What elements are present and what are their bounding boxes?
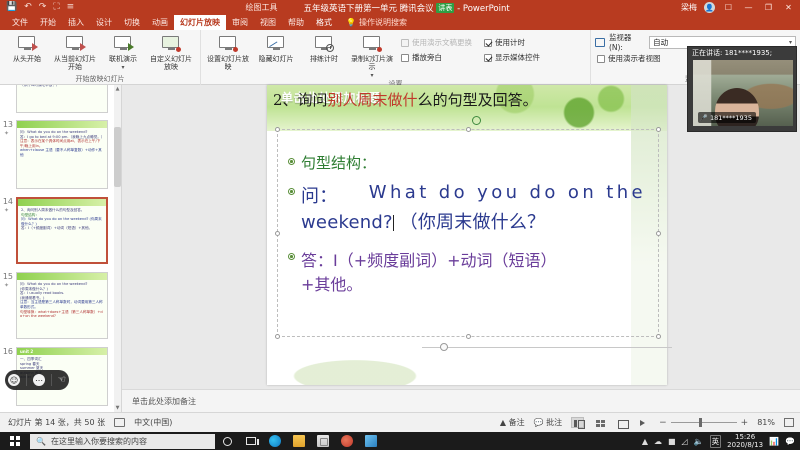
text-cursor [393,215,394,231]
thumb-line: 注意：表示在某个具体时间点用at，表示在上午/下午/晚上用in。 [20,139,104,148]
custom-slideshow-button[interactable]: 自定义幻灯片放映 [148,33,194,71]
chevron-down-icon[interactable]: ▾ [121,64,124,71]
thumbnail-number: 12 [2,85,16,113]
checkbox-icon [484,54,492,62]
notification-icon[interactable]: 📊 [769,437,779,446]
notes-splitter[interactable] [422,345,672,350]
comments-button[interactable]: 💬 批注 [534,417,563,428]
hide-slide-button[interactable]: 隐藏幻灯片 [253,33,299,63]
slide-thumbnail-pane[interactable]: 12 （+频度副词）+动词短语+其他 （你什么时候吃早饭？） 13 ✦ 问：Wh… [0,85,122,412]
start-from-current-label: 从当前幻灯片开始 [52,55,98,71]
close-button[interactable]: ✕ [782,3,795,12]
scroll-down-arrow[interactable]: ▼ [114,404,121,412]
chevron-down-icon[interactable]: ▾ [370,72,373,79]
file-explorer-icon[interactable] [287,432,311,450]
app-name: PowerPoint [463,4,510,14]
start-show-icon[interactable]: ⛶ [53,3,59,12]
question-chinese: （你周末做什么？ [400,212,546,233]
quick-access-toolbar: 💾 ↶ ↷ ⛶ ≡ [0,3,74,12]
slide-show-view-button[interactable] [637,417,650,428]
zoom-out-button[interactable]: − [659,418,667,428]
cortana-icon[interactable] [215,432,239,450]
checkbox-icon [401,54,409,62]
cloud-icon[interactable]: ☁ [654,437,662,446]
custom-slideshow-label: 自定义幻灯片放映 [148,55,194,71]
reaction-toolbar[interactable]: ☺ ⋯ ☜ [5,370,69,390]
task-view-icon[interactable] [239,432,263,450]
tab-file[interactable]: 文件 [6,15,34,30]
bullet-item-structure[interactable]: 句型结构： [288,152,376,173]
thumb-body: 问：What do you do on the weekend? 答：I go … [17,128,107,188]
tab-insert[interactable]: 插入 [62,15,90,30]
tab-transitions[interactable]: 切换 [118,15,146,30]
chevron-down-icon: ▾ [789,39,792,46]
use-timings-label: 使用计时 [495,37,525,48]
question-english: What do you do on the [369,182,646,208]
show-media-controls-checkbox[interactable]: 显示媒体控件 [484,51,540,64]
slide-sorter-view-button[interactable] [593,417,606,428]
animation-star-icon: ✦ [4,282,9,289]
windows-taskbar: 🔍 在这里输入你要搜索的内容 ▲ ☁ ■ ◿ 🔈 英 15:26 2020/8/… [0,432,800,450]
search-icon: 🔍 [36,437,46,446]
thumb-title: unit 2 [17,348,107,355]
slide-editing-area: 单击此处添加标题 2、询问别人周末做什么的句型及回答。 [122,85,800,412]
animation-star-icon: ✦ [4,207,9,214]
tab-home[interactable]: 开始 [34,15,62,30]
video-panel[interactable]: 正在讲话: 181****1935; 🎤 181****1935 [687,46,797,132]
fit-to-window-icon[interactable] [784,418,794,427]
record-slideshow-button[interactable]: 录制幻灯片演示 ▾ [349,33,395,79]
volume-icon[interactable]: 🔈 [694,437,704,446]
presentation-change-label: 使用演示文稿更换 [412,37,472,48]
set-up-slideshow-label: 设置幻灯片放映 [205,55,251,71]
record-slideshow-label: 录制幻灯片演示 [349,55,395,71]
play-narrations-label: 播放旁白 [412,52,442,63]
bullet-text: 问： What do you do on the weekend? （你周末做什… [301,182,646,234]
participant-badge: 🎤 181****1935 [698,112,756,123]
thumb-line: 答：I（+频度副词）+动词（短语）+其他。 [21,226,103,231]
resize-handle-n[interactable] [466,127,471,132]
monitor-icon [595,38,605,47]
present-online-icon [112,34,134,54]
slide-counter[interactable]: 幻灯片 第 14 张，共 50 张 [8,417,105,428]
participant-name: 181****1935 [710,114,752,122]
clock-time: 15:26 [735,433,755,441]
battery-icon[interactable]: ■ [668,437,676,446]
chevron-up-icon[interactable]: ▲ [642,437,648,446]
rehearse-timings-label: 排练计时 [310,55,338,63]
bullet-item-answer[interactable]: 答：I（+频度副词）+动词（短语） +其他。 [288,247,648,295]
start-from-beginning-label: 从头开始 [13,55,41,63]
use-presenter-view-label: 使用演示者视图 [608,53,661,64]
title-separator: - [457,4,460,14]
ribbon-group-start-slideshow: 从头开始 从当前幻灯片开始 联机演示 ▾ [0,30,200,85]
user-name[interactable]: 梁梅 [681,2,697,13]
thumb-title-bar [18,199,106,206]
thumbnail-scrollbar[interactable]: ▲ ▼ [114,85,121,412]
use-timings-checkbox[interactable]: 使用计时 [484,36,540,49]
language-label[interactable]: 中文(中国) [134,417,172,428]
resize-handle-se[interactable] [656,334,661,339]
tab-review[interactable]: 审阅 [226,15,254,30]
setup-checkbox-column-1: 使用演示文稿更换 播放旁白 [397,33,478,64]
start-from-beginning-icon [16,34,38,54]
record-slide-show-icon [361,34,383,54]
bullet-icon [288,253,295,260]
hand-icon[interactable]: ☜ [58,375,66,385]
user-avatar-icon[interactable]: 👤 [704,2,715,13]
ribbon: 从头开始 从当前幻灯片开始 联机演示 ▾ [0,30,800,85]
edge-icon[interactable] [263,432,287,450]
reading-view-button[interactable] [615,417,628,428]
system-tray: ▲ ☁ ■ ◿ 🔈 英 15:26 2020/8/13 📊 💬 [642,433,800,449]
slide-body-heading: 2、询问别人周末做什么的句型及回答。 [273,89,538,110]
bullet-item-question[interactable]: 问： What do you do on the weekend? （你周末做什… [288,182,646,234]
comments-icon: 💬 [534,418,544,427]
checkbox-icon [597,55,605,63]
monitor-label: 监视器(N): [609,32,645,52]
ime-indicator[interactable]: 英 [710,435,722,448]
tell-me-search[interactable]: 💡 操作说明搜索 [346,17,407,28]
resize-handle-nw[interactable] [275,127,280,132]
notes-placeholder: 单击此处添加备注 [132,396,196,407]
title-center: 绘图工具 五年级英语下册第一单元 腾讯会议 讲表 - PowerPoint [74,2,681,14]
zoom-track[interactable] [671,422,737,423]
animation-star-icon: ✦ [4,130,9,137]
hide-slide-icon [265,34,287,54]
ribbon-display-options-icon[interactable]: ☐ [722,3,735,12]
play-narrations-checkbox[interactable]: 播放旁白 [401,51,472,64]
notes-label: 备注 [509,418,525,427]
thumb-line: 问：What do you do on the weekend? (你周末做什么… [21,217,103,226]
notes-pane[interactable]: 单击此处添加备注 [122,389,800,412]
powerpoint-window: 💾 ↶ ↷ ⛶ ≡ 绘图工具 五年级英语下册第一单元 腾讯会议 讲表 - Pow… [0,0,800,450]
setup-checkbox-column-2: 使用计时 显示媒体控件 [480,33,546,64]
thumb-line: （你什么时候吃早饭？） [20,85,104,87]
question-english-2: weekend? [301,212,393,233]
present-online-label: 联机演示 [109,55,137,63]
thumb-body: 2、询问别人周末做什么的句型及回答。 句型结构： 问：What do you d… [18,206,106,262]
start-from-beginning-button[interactable]: 从头开始 [4,33,50,63]
checkbox-icon [401,39,409,47]
restore-button[interactable]: ❐ [762,3,775,12]
language-icon[interactable] [114,418,125,427]
show-media-controls-label: 显示媒体控件 [495,52,540,63]
thumb-body: （+频度副词）+动词短语+其他 （你什么时候吃早饭？） [17,85,107,112]
speaking-label: 正在讲话: 181****1935; [688,47,796,59]
thumbnail-slide-12[interactable]: 12 （+频度副词）+动词短语+其他 （你什么时候吃早饭？） [0,85,121,113]
heading-prefix: 2、询问 [273,91,328,109]
scroll-up-arrow[interactable]: ▲ [114,85,121,93]
start-from-current-button[interactable]: 从当前幻灯片开始 [52,33,98,71]
answer-line-2: +其他。 [301,271,557,295]
zoom-in-button[interactable]: + [741,418,749,428]
checkbox-icon [484,39,492,47]
save-icon[interactable]: 💾 [6,3,17,12]
monitor-value: 自动 [653,37,668,48]
resize-handle-ne[interactable] [656,127,661,132]
meeting-app-icon[interactable] [359,432,383,450]
search-placeholder: 在这里输入你要搜索的内容 [51,436,147,447]
notes-icon: ▲ [500,418,506,427]
heading-suffix: 么的句型及回答。 [418,91,538,109]
qat-more-icon[interactable]: ≡ [67,3,75,12]
thumbnail-preview: （+频度副词）+动词短语+其他 （你什么时候吃早饭？） [16,85,108,113]
microphone-icon: 🎤 [700,113,707,122]
tab-help[interactable]: 帮助 [282,15,310,30]
tab-design[interactable]: 设计 [90,15,118,30]
question-prefix: 问： [301,182,337,208]
thumb-title-bar: unit 2 [17,348,107,355]
ribbon-group-label-start: 开始放映幻灯片 [0,74,200,85]
scrollbar-thumb[interactable] [114,127,121,187]
resize-handle-e[interactable] [656,231,661,236]
resize-handle-w[interactable] [275,231,280,236]
rehearse-timings-button[interactable]: 排练计时 [301,33,347,63]
thumb-line: 注意：当主语是第三人称单数时，动词要用第三人称单数形式。 [20,300,104,309]
clock-date: 2020/8/13 [727,441,763,449]
document-title-text: 五年级英语下册第一单元 腾讯会议 [303,4,433,14]
status-left: 幻灯片 第 14 张，共 50 张 中文(中国) [0,417,172,428]
action-center-icon[interactable]: 💬 [785,437,795,446]
microsoft-store-icon[interactable] [311,432,335,450]
title-bar: 💾 ↶ ↷ ⛶ ≡ 绘图工具 五年级英语下册第一单元 腾讯会议 讲表 - Pow… [0,0,800,15]
thumbnail-preview: 问：What do you do on the weekend? 答：I go … [16,120,108,189]
thumb-body: 问：What do you do on the weekend? (你周末做什么… [17,280,107,338]
tab-slide-show[interactable]: 幻灯片放映 [174,15,226,30]
zoom-knob[interactable] [699,418,702,427]
zoom-level-label[interactable]: 81% [757,418,775,427]
thumbnail-slide-15[interactable]: 15 ✦ 问：What do you do on the weekend? (你… [0,269,121,339]
tell-me-label: 操作说明搜索 [359,17,407,28]
thumb-line: when+clause 主语（要不人称单复数）+动作+其他 [20,148,104,157]
status-bar: 幻灯片 第 14 张，共 50 张 中文(中国) ▲ 备注 💬 批注 − + 8… [0,412,800,432]
lightbulb-icon: 💡 [346,18,356,27]
bullet-text: 句型结构： [301,152,376,173]
tab-format[interactable]: 格式 [310,15,338,30]
smiley-icon[interactable]: ☺ [8,374,20,386]
hide-slide-label: 隐藏幻灯片 [259,55,294,63]
redo-icon[interactable]: ↷ [39,3,47,12]
contextual-tool-label: 绘图工具 [245,2,277,13]
set-up-slide-show-icon [217,34,239,54]
start-from-current-slide-icon [64,34,86,54]
taskbar-search-input[interactable]: 🔍 在这里输入你要搜索的内容 [30,434,215,449]
normal-view-button[interactable] [571,417,584,428]
thumb-title-bar [17,121,107,128]
tab-animations[interactable]: 动画 [146,15,174,30]
splitter-handle[interactable] [440,343,448,351]
title-badge: 讲表 [436,3,454,13]
comments-label: 批注 [546,418,562,427]
resize-handle-s[interactable] [466,334,471,339]
answer-line-1: 答：I（+频度副词）+动词（短语） [301,247,557,271]
use-presenter-view-checkbox[interactable]: 使用演示者视图 [595,52,661,65]
taskbar-clock[interactable]: 15:26 2020/8/13 [727,433,763,449]
zoom-slider[interactable]: − + [659,418,748,428]
presentation-change-checkbox: 使用演示文稿更换 [401,36,472,49]
thumb-title-bar [17,273,107,280]
present-online-button[interactable]: 联机演示 ▾ [100,33,146,71]
tab-view[interactable]: 视图 [254,15,282,30]
network-icon[interactable]: ◿ [682,437,688,446]
body-placeholder[interactable]: 句型结构： 问： What do you do on the weekend? … [277,129,659,337]
video-feed[interactable]: 🎤 181****1935 [693,60,793,126]
bullet-icon [288,188,295,195]
thumb-line: 句型转换：what+does+主语（第三人称单数）+do+on the week… [20,310,104,319]
status-right: ▲ 备注 💬 批注 − + 81% [500,417,800,428]
powerpoint-icon[interactable] [335,432,359,450]
minimize-button[interactable]: — [742,3,755,12]
rehearse-timings-icon [313,34,335,54]
window-controls: 梁梅 👤 ☐ — ❐ ✕ [681,2,800,13]
ribbon-tabs: 文件 开始 插入 设计 切换 动画 幻灯片放映 审阅 视图 帮助 格式 💡 操作… [0,15,800,30]
slide-wrapper: 单击此处添加标题 2、询问别人周末做什么的句型及回答。 [267,85,667,385]
heading-red: 别人周末做什 [328,91,418,109]
document-title: 五年级英语下册第一单元 腾讯会议 讲表 - PowerPoint [303,2,509,14]
current-slide[interactable]: 单击此处添加标题 2、询问别人周末做什么的句型及回答。 [267,85,667,385]
rotation-handle[interactable] [472,116,481,125]
undo-icon[interactable]: ↶ [24,3,32,12]
thumbnail-slide-13[interactable]: 13 ✦ 问：What do you do on the weekend? 答：… [0,117,121,189]
ribbon-group-setup: 设置幻灯片放映 隐藏幻灯片 排练计时 [200,30,590,85]
windows-start-icon[interactable] [0,432,30,450]
thumbnail-preview: 2、询问别人周末做什么的句型及回答。 句型结构： 问：What do you d… [16,197,108,264]
resize-handle-sw[interactable] [275,334,280,339]
thumbnail-slide-14[interactable]: 14 ✦ 2、询问别人周末做什么的句型及回答。 句型结构： 问：What do … [0,194,121,264]
bullet-text: 答：I（+频度副词）+动词（短语） +其他。 [301,247,557,295]
thumbnail-preview: 问：What do you do on the weekend? (你周末做什么… [16,272,108,339]
bullet-icon [288,158,295,165]
custom-slide-show-icon [160,34,182,54]
set-up-slideshow-button[interactable]: 设置幻灯片放映 [205,33,251,71]
notes-button[interactable]: ▲ 备注 [500,417,525,428]
more-dots-icon[interactable]: ⋯ [33,374,45,386]
